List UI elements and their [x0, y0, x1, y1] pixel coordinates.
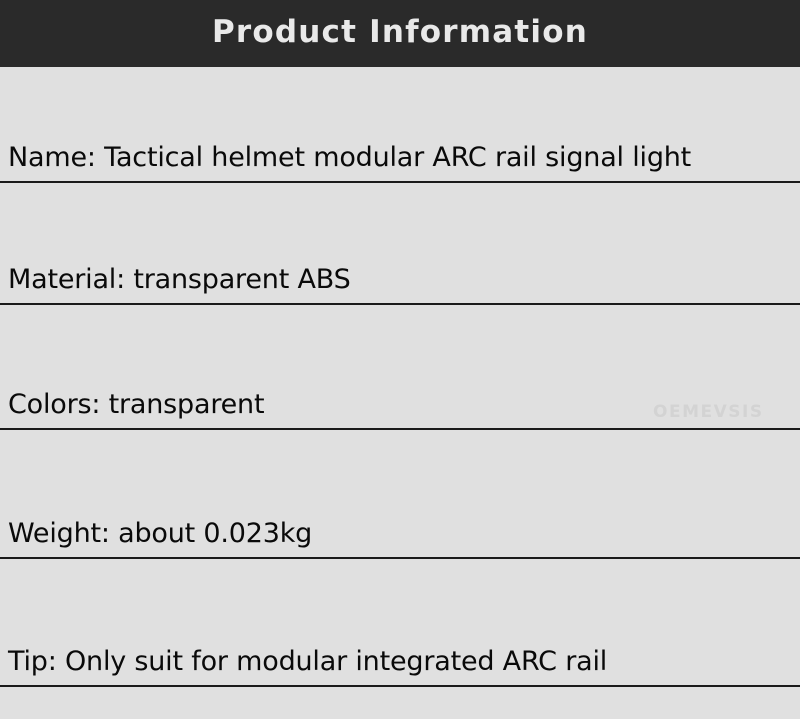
page-header: Product Information	[0, 0, 800, 67]
info-row-name: Name: Tactical helmet modular ARC rail s…	[0, 113, 800, 181]
info-row-text: Tip: Only suit for modular integrated AR…	[8, 647, 607, 677]
product-information-page: Product Information Name: Tactical helme…	[0, 0, 800, 719]
row-divider	[0, 685, 800, 687]
page-title: Product Information	[212, 17, 588, 50]
info-row-weight: Weight: about 0.023kg	[0, 489, 800, 557]
info-row-text: Colors: transparent	[8, 390, 264, 420]
row-divider	[0, 557, 800, 559]
info-row-colors: Colors: transparent	[0, 360, 800, 428]
row-divider	[0, 303, 800, 305]
row-divider	[0, 428, 800, 430]
info-row-text: Weight: about 0.023kg	[8, 519, 312, 549]
info-row-tip: Tip: Only suit for modular integrated AR…	[0, 617, 800, 685]
info-row-text: Name: Tactical helmet modular ARC rail s…	[8, 143, 691, 173]
row-divider	[0, 181, 800, 183]
product-info-list: Name: Tactical helmet modular ARC rail s…	[0, 67, 800, 719]
info-row-text: Material: transparent ABS	[8, 265, 351, 295]
info-row-material: Material: transparent ABS	[0, 235, 800, 303]
